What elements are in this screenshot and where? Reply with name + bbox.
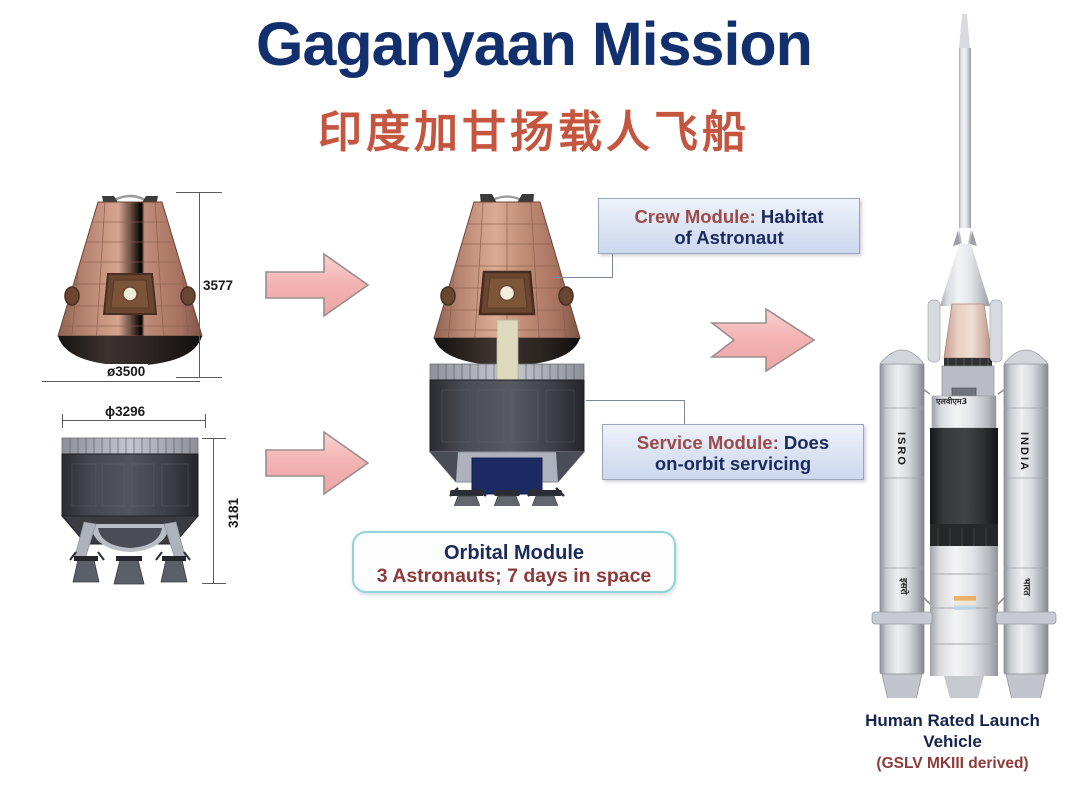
- service-diameter-value: ɸ3296: [102, 404, 148, 419]
- crew-module-capsule-illustration: [40, 186, 220, 376]
- service-height-value: 3181: [226, 498, 241, 528]
- crew-callout-line2: of Astronaut: [609, 227, 849, 248]
- launch-vehicle-caption-line2: Vehicle: [845, 731, 1060, 752]
- launch-vehicle-caption-line1: Human Rated Launch: [845, 710, 1060, 731]
- service-diameter-dim-line: [62, 420, 206, 421]
- right-booster-label-india-hindi: भारत: [1020, 578, 1033, 595]
- crew-height-value: 3577: [203, 278, 233, 293]
- diagram-canvas: Gaganyaan Mission 印度加甘扬载人飞船: [0, 0, 1068, 800]
- right-booster-label-india: INDIA: [1018, 432, 1030, 472]
- service-callout-leader-vertical: [684, 400, 685, 426]
- service-callout-accent: Service Module:: [637, 432, 779, 453]
- service-diameter-tick-left: [62, 414, 63, 428]
- orbital-callout-line1: Orbital Module: [362, 541, 666, 565]
- service-callout-line1-rest: Does: [779, 432, 829, 453]
- launch-vehicle-caption-line3: (GSLV MKIII derived): [845, 754, 1060, 774]
- arrow-crew-to-orbital: [262, 250, 372, 320]
- crew-diameter-value: ø3500: [104, 364, 148, 379]
- crew-callout-line1-rest: Habitat: [756, 206, 824, 227]
- orbital-callout-line2: 3 Astronauts; 7 days in space: [362, 565, 666, 588]
- arrow-service-to-orbital: [262, 428, 372, 498]
- left-booster-label-isro-hindi: इसरो: [897, 578, 910, 595]
- service-module-illustration: [54, 432, 206, 592]
- crew-callout-accent: Crew Module:: [634, 206, 755, 227]
- arrow-orbital-to-rocket: [708, 305, 818, 375]
- crew-height-tick-bottom: [176, 377, 222, 378]
- service-diameter-tick-right: [205, 414, 206, 428]
- service-height-dim-line: [213, 438, 214, 584]
- service-callout-line2: on-orbit servicing: [613, 453, 853, 474]
- service-module-callout[interactable]: Service Module: Does on-orbit servicing: [602, 424, 864, 480]
- orbital-module-illustration: [402, 186, 612, 506]
- crew-height-dim-line: [199, 192, 200, 378]
- core-stage-label-hindi: एलवीएम3: [936, 396, 967, 407]
- orbital-module-callout[interactable]: Orbital Module 3 Astronauts; 7 days in s…: [352, 531, 676, 593]
- crew-callout-leader-vertical: [612, 254, 613, 278]
- crew-callout-leader-horizontal: [553, 277, 613, 278]
- left-booster-label-isro: ISRO: [895, 432, 907, 467]
- launch-vehicle-caption: Human Rated Launch Vehicle (GSLV MKIII d…: [845, 710, 1060, 773]
- crew-height-tick-top: [176, 192, 222, 193]
- service-height-tick-top: [202, 438, 226, 439]
- service-callout-leader-horizontal: [586, 400, 685, 401]
- service-height-tick-bottom: [202, 583, 226, 584]
- crew-diameter-dim-line: [42, 381, 200, 382]
- crew-module-callout[interactable]: Crew Module: Habitat of Astronaut: [598, 198, 860, 254]
